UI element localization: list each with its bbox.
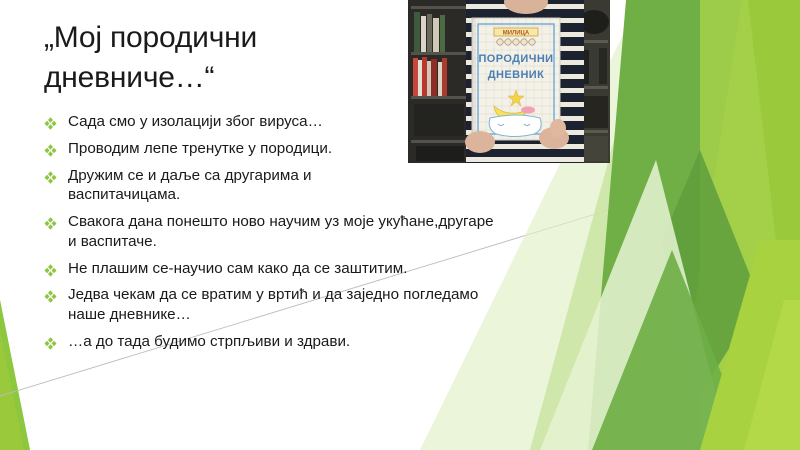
list-item: Дружим се и даље са другарима и васпитач… [42, 166, 398, 206]
diamond-cluster-bullet-icon [44, 116, 57, 129]
list-item: Једва чекам да се вратим у вртић и да за… [42, 285, 498, 325]
facet-shape-bottom-right [700, 240, 800, 450]
facet-shape-bright-right [672, 0, 800, 450]
svg-text:МИЛИЦА: МИЛИЦА [503, 31, 530, 37]
facet-shape-lower-mid [592, 250, 752, 450]
facet-shape-dark-accent [662, 150, 760, 410]
diamond-cluster-bullet-icon [44, 216, 57, 229]
facet-shape-left-wedge [0, 300, 30, 450]
bullet-list: Сада смо у изолацији због вируса… Провод… [42, 112, 462, 359]
diamond-cluster-bullet-icon [44, 263, 57, 276]
facet-shape-lower-pale [540, 160, 730, 450]
list-item-label: …а до тада будимо стрпљиви и здрави. [68, 332, 498, 352]
facet-shape-light-sliver [700, 0, 800, 450]
facet-shape-left-wedge-2 [0, 300, 30, 450]
diamond-cluster-bullet-icon [44, 336, 57, 349]
list-item-label: Не плашим се-научио сам како да се зашти… [68, 259, 498, 279]
list-item-label: Дружим се и даље са другарима и васпитач… [68, 166, 398, 206]
list-item-label: Свакога дана понешто ново научим уз моје… [68, 212, 498, 252]
svg-text:ДНЕВНИК: ДНЕВНИК [488, 69, 544, 81]
diamond-cluster-bullet-icon [44, 289, 57, 302]
slide-title: „Мој породични дневниче…“ [44, 18, 404, 97]
list-item: …а до тада будимо стрпљиви и здрави. [42, 332, 498, 352]
facet-shape-mid-green [588, 0, 800, 450]
list-item-label: Проводим лепе тренутке у породици. [68, 139, 398, 159]
list-item: Проводим лепе тренутке у породици. [42, 139, 398, 159]
list-item: Свакога дана понешто ново научим уз моје… [42, 212, 498, 252]
list-item-label: Сада смо у изолацији због вируса… [68, 112, 398, 132]
facet-hairline-2 [560, 150, 652, 450]
list-item-label: Једва чекам да се вратим у вртић и да за… [68, 285, 498, 325]
list-item: Не плашим се-научио сам како да се зашти… [42, 259, 498, 279]
diamond-cluster-bullet-icon [44, 170, 57, 183]
slide-canvas: „Мој породични дневниче…“ [0, 0, 800, 450]
list-item: Сада смо у изолацији због вируса… [42, 112, 398, 132]
facet-shape-corner-glow [744, 300, 800, 450]
diamond-cluster-bullet-icon [44, 143, 57, 156]
svg-text:ПОРОДИЧНИ: ПОРОДИЧНИ [479, 53, 554, 65]
